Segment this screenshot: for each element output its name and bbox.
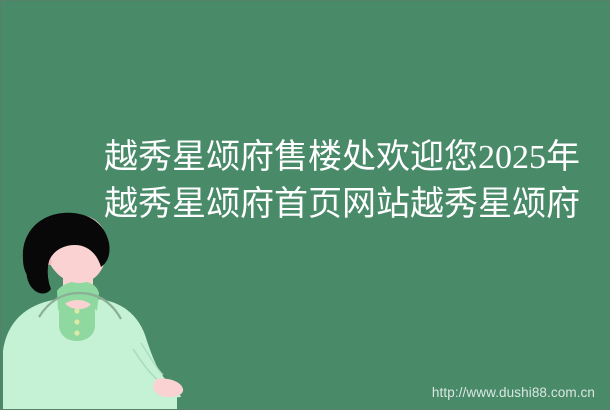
person-illustration-svg [1,201,201,410]
button-2 [74,319,79,324]
promo-banner: 越秀星颂府售楼处欢迎您2025年越秀星颂府首页网站越秀星颂府 [0,0,610,410]
person-illustration [1,201,201,410]
watermark-url: http://www.dushi88.com.cn [432,385,595,400]
button-3 [74,330,79,335]
hair-sideburn [26,258,51,294]
button-1 [74,308,79,313]
